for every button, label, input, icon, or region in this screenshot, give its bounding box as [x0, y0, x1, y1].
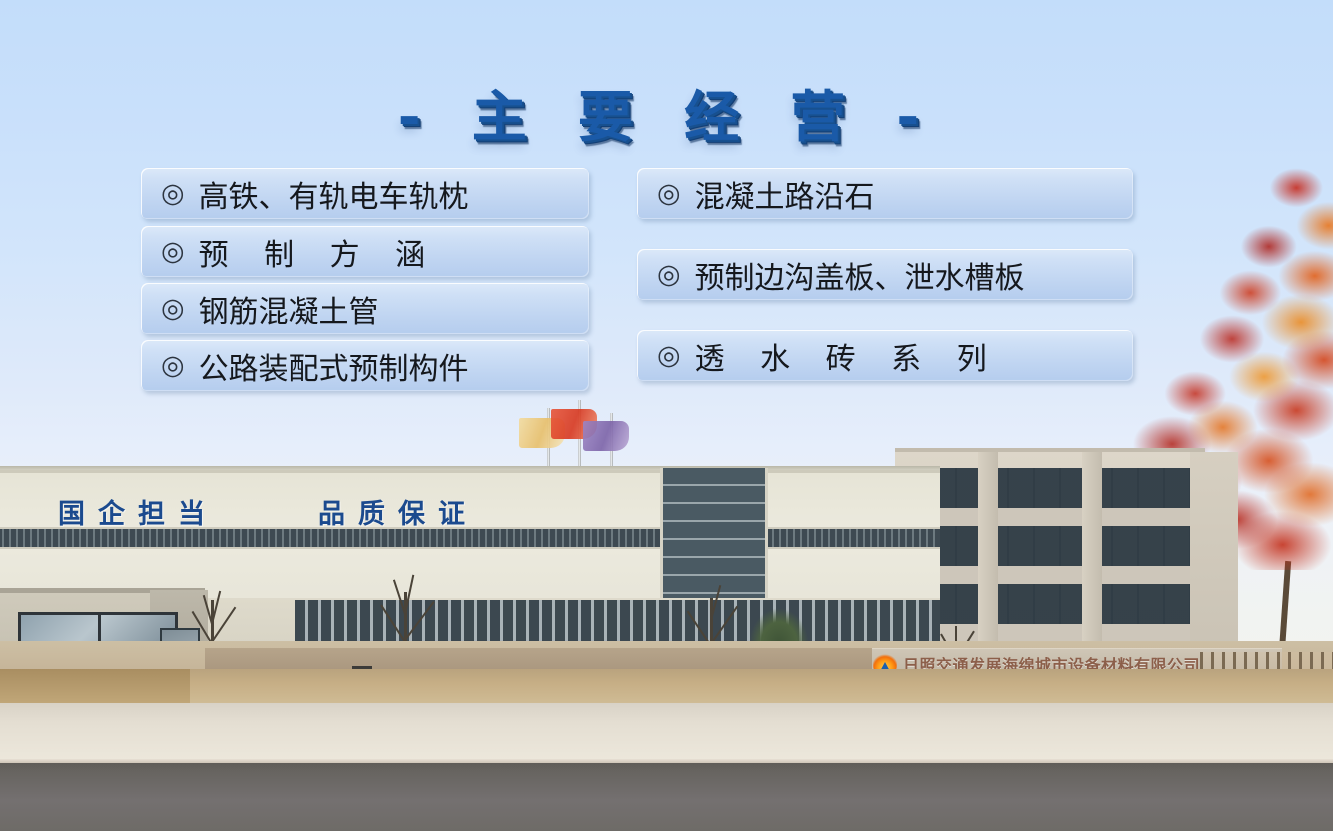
dirt-strip	[0, 669, 1333, 703]
flag-purple	[583, 421, 629, 451]
service-item-precast-ditch-cover[interactable]: ◎ 预制边沟盖板、泄水槽板	[637, 249, 1133, 300]
bullet-icon: ◎	[657, 261, 681, 288]
bullet-icon: ◎	[161, 352, 185, 379]
bullet-icon: ◎	[161, 180, 185, 207]
service-label: 公路装配式预制构件	[199, 344, 469, 388]
service-item-rail-sleepers[interactable]: ◎ 高铁、有轨电车轨枕	[141, 168, 589, 219]
service-label: 预 制 方 涵	[199, 230, 439, 274]
poster-canvas: 国企担当 品质保证 日照交通发展海绵城市设备材料有限公司 - 主 要 经 营 -	[0, 0, 1333, 831]
service-item-highway-prefab-components[interactable]: ◎ 公路装配式预制构件	[141, 340, 589, 391]
bullet-icon: ◎	[161, 238, 185, 265]
building-sign-left: 国企担当	[58, 492, 218, 531]
page-title: - 主 要 经 营 -	[0, 72, 1333, 152]
bullet-icon: ◎	[161, 295, 185, 322]
service-label: 混凝土路沿石	[695, 172, 875, 216]
service-item-concrete-curbstone[interactable]: ◎ 混凝土路沿石	[637, 168, 1133, 219]
service-label: 钢筋混凝土管	[199, 287, 379, 331]
building-sign-right: 品质保证	[318, 492, 478, 531]
bullet-icon: ◎	[657, 342, 681, 369]
services-column-left: ◎ 高铁、有轨电车轨枕 ◎ 预 制 方 涵 ◎ 钢筋混凝土管 ◎ 公路装配式预制…	[141, 168, 589, 397]
dirt-strip-left	[0, 669, 190, 703]
service-label: 预制边沟盖板、泄水槽板	[695, 253, 1025, 297]
bullet-icon: ◎	[657, 180, 681, 207]
service-label: 高铁、有轨电车轨枕	[199, 172, 469, 216]
services-column-right: ◎ 混凝土路沿石 ◎ 预制边沟盖板、泄水槽板 ◎ 透 水 砖 系 列	[637, 168, 1133, 411]
asphalt-road	[0, 763, 1333, 831]
service-label: 透 水 砖 系 列	[695, 334, 1000, 378]
service-item-reinforced-concrete-pipe[interactable]: ◎ 钢筋混凝土管	[141, 283, 589, 334]
service-item-permeable-brick-series[interactable]: ◎ 透 水 砖 系 列	[637, 330, 1133, 381]
concrete-apron	[0, 703, 1333, 759]
service-item-precast-box-culvert[interactable]: ◎ 预 制 方 涵	[141, 226, 589, 277]
